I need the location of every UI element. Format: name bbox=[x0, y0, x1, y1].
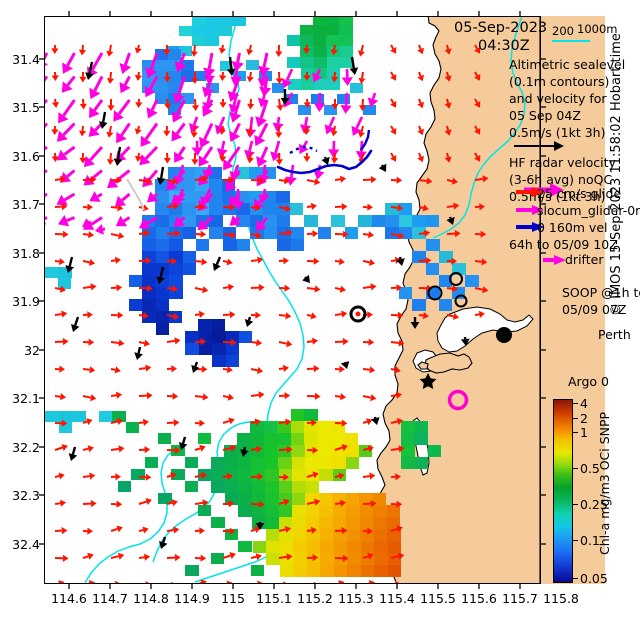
legend-altimetry-line-2: (0.1m contours) bbox=[509, 74, 609, 89]
ytick-32-3: 32.3 bbox=[2, 488, 40, 503]
legend-glider-time: 64h to 05/09 10Z bbox=[509, 237, 618, 252]
cbar-label-6: 4 bbox=[580, 396, 588, 411]
cbar-label-5: 2 bbox=[580, 411, 588, 426]
colorbar-title: Chl-a mg/m3 OCi SNPP bbox=[597, 412, 612, 555]
cbar-label-0: 0.05 bbox=[580, 571, 608, 586]
legend-item-label-2: 0 160m vel bbox=[537, 220, 608, 235]
legend-altimetry-arrow bbox=[512, 138, 572, 154]
cbar-label-4: 1 bbox=[580, 425, 588, 440]
perth-city-marker bbox=[496, 327, 512, 343]
legend-altimetry-line-1: Altimetric sealevel bbox=[509, 57, 625, 72]
map-canvas bbox=[45, 17, 540, 583]
credit-text: © IMOS 15-Sep-2023 11:58:02 Hobart time bbox=[609, 33, 624, 316]
legend-soop-line-1: SOOP @1h to bbox=[562, 285, 640, 300]
ytick-31-4: 31.4 bbox=[2, 52, 40, 67]
cbar-tick-5 bbox=[573, 418, 578, 419]
scalebar-label-200: 200 bbox=[552, 24, 574, 38]
ytick-31-9: 31.9 bbox=[2, 294, 40, 309]
map-figure: 31.4 31.5 31.6 31.7 31.8 31.9 32 32.1 32… bbox=[0, 0, 640, 630]
map-plot-area[interactable] bbox=[44, 16, 541, 584]
cbar-tick-2 bbox=[573, 504, 578, 505]
legend-argo-label: Argo 0 bbox=[568, 374, 609, 389]
bathymetry-contour-south bbox=[85, 449, 175, 583]
ytick-31-6: 31.6 bbox=[2, 149, 40, 164]
ytick-32-4: 32.4 bbox=[2, 537, 40, 552]
ytick-32: 32 bbox=[2, 343, 40, 358]
ytick-31-8: 31.8 bbox=[2, 246, 40, 261]
ytick-31-5: 31.5 bbox=[2, 100, 40, 115]
cbar-tick-4 bbox=[573, 432, 578, 433]
map-title-time: 04:30Z bbox=[478, 38, 530, 54]
ytick-32-2: 32.2 bbox=[2, 440, 40, 455]
cbar-tick-1 bbox=[573, 540, 578, 541]
legend-item-label-1: slocum_glider-0m bbox=[537, 203, 640, 218]
scalebar-line bbox=[552, 40, 590, 42]
ytick-31-7: 31.7 bbox=[2, 197, 40, 212]
city-label-perth: Perth bbox=[598, 327, 631, 342]
ytick-32-1: 32.1 bbox=[2, 391, 40, 406]
cbar-tick-3 bbox=[573, 468, 578, 469]
cbar-tick-6 bbox=[573, 403, 578, 404]
legend-altimetry-line-4: 05 Sep 04Z bbox=[509, 108, 581, 123]
legend-altimetry-line-3: and velocity for bbox=[509, 91, 607, 106]
mooring-marker-inner bbox=[356, 312, 361, 317]
colorbar[interactable] bbox=[553, 399, 573, 583]
map-title-date: 05-Sep-2023 bbox=[454, 20, 547, 36]
legend-hfradar-line-1: HF radar velocity bbox=[509, 155, 616, 170]
xtick-115-8: 115.8 bbox=[531, 591, 591, 606]
cbar-tick-0 bbox=[573, 578, 578, 579]
legend-drifter-label: drifter bbox=[565, 252, 603, 267]
